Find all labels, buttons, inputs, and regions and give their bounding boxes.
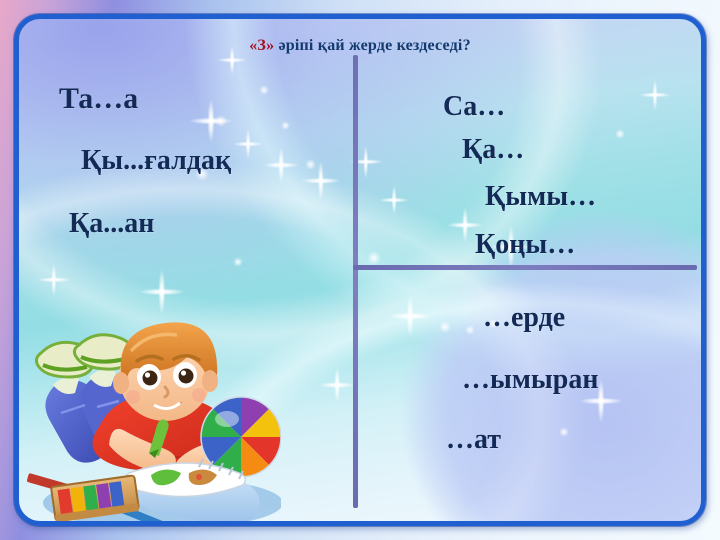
sparkle-glow-icon [305, 159, 316, 170]
word-item: Са… [443, 91, 505, 123]
slide-canvas: «З» әріпі қай жерде кездеседі? Та…а Қы..… [0, 0, 720, 540]
title-letter-highlight: «З» [249, 37, 274, 54]
horizontal-divider [353, 265, 697, 270]
title-question-text: әріпі қай жерде кездеседі? [274, 37, 471, 54]
sparkle-glow-icon [615, 129, 625, 139]
sparkle-glow-icon [281, 121, 290, 130]
sparkle-star-icon [319, 367, 355, 403]
sparkle-glow-icon [367, 251, 381, 265]
sparkle-star-icon [263, 147, 299, 183]
sparkle-star-icon [639, 79, 671, 111]
word-item: Та…а [59, 82, 138, 116]
sparkle-star-icon [379, 185, 409, 215]
word-item: Қа… [462, 134, 524, 166]
sparkle-glow-icon [215, 115, 227, 127]
sparkle-glow-icon [439, 321, 451, 333]
sparkle-glow-icon [233, 257, 243, 267]
word-item: …ымыран [462, 364, 599, 396]
sparkle-glow-icon [259, 85, 269, 95]
sparkle-star-icon [189, 99, 233, 143]
child-drawing-illustration [14, 277, 281, 525]
sparkle-glow-icon [465, 325, 475, 335]
word-item: Қы...ғалдақ [81, 145, 231, 177]
word-item: Қа...ан [69, 208, 154, 240]
word-item: Қымы… [485, 181, 596, 213]
slide-card: «З» әріпі қай жерде кездеседі? Та…а Қы..… [14, 14, 706, 526]
vertical-divider [353, 55, 358, 508]
sparkle-star-icon [389, 295, 431, 337]
sparkle-star-icon [301, 161, 341, 201]
word-item: …ерде [483, 302, 565, 334]
sparkle-glow-icon [559, 427, 569, 437]
page-title: «З» әріпі қай жерде кездеседі? [19, 37, 701, 55]
sparkle-star-icon [233, 129, 263, 159]
word-item: Қоңы… [475, 229, 575, 261]
word-item: …ат [446, 424, 501, 456]
